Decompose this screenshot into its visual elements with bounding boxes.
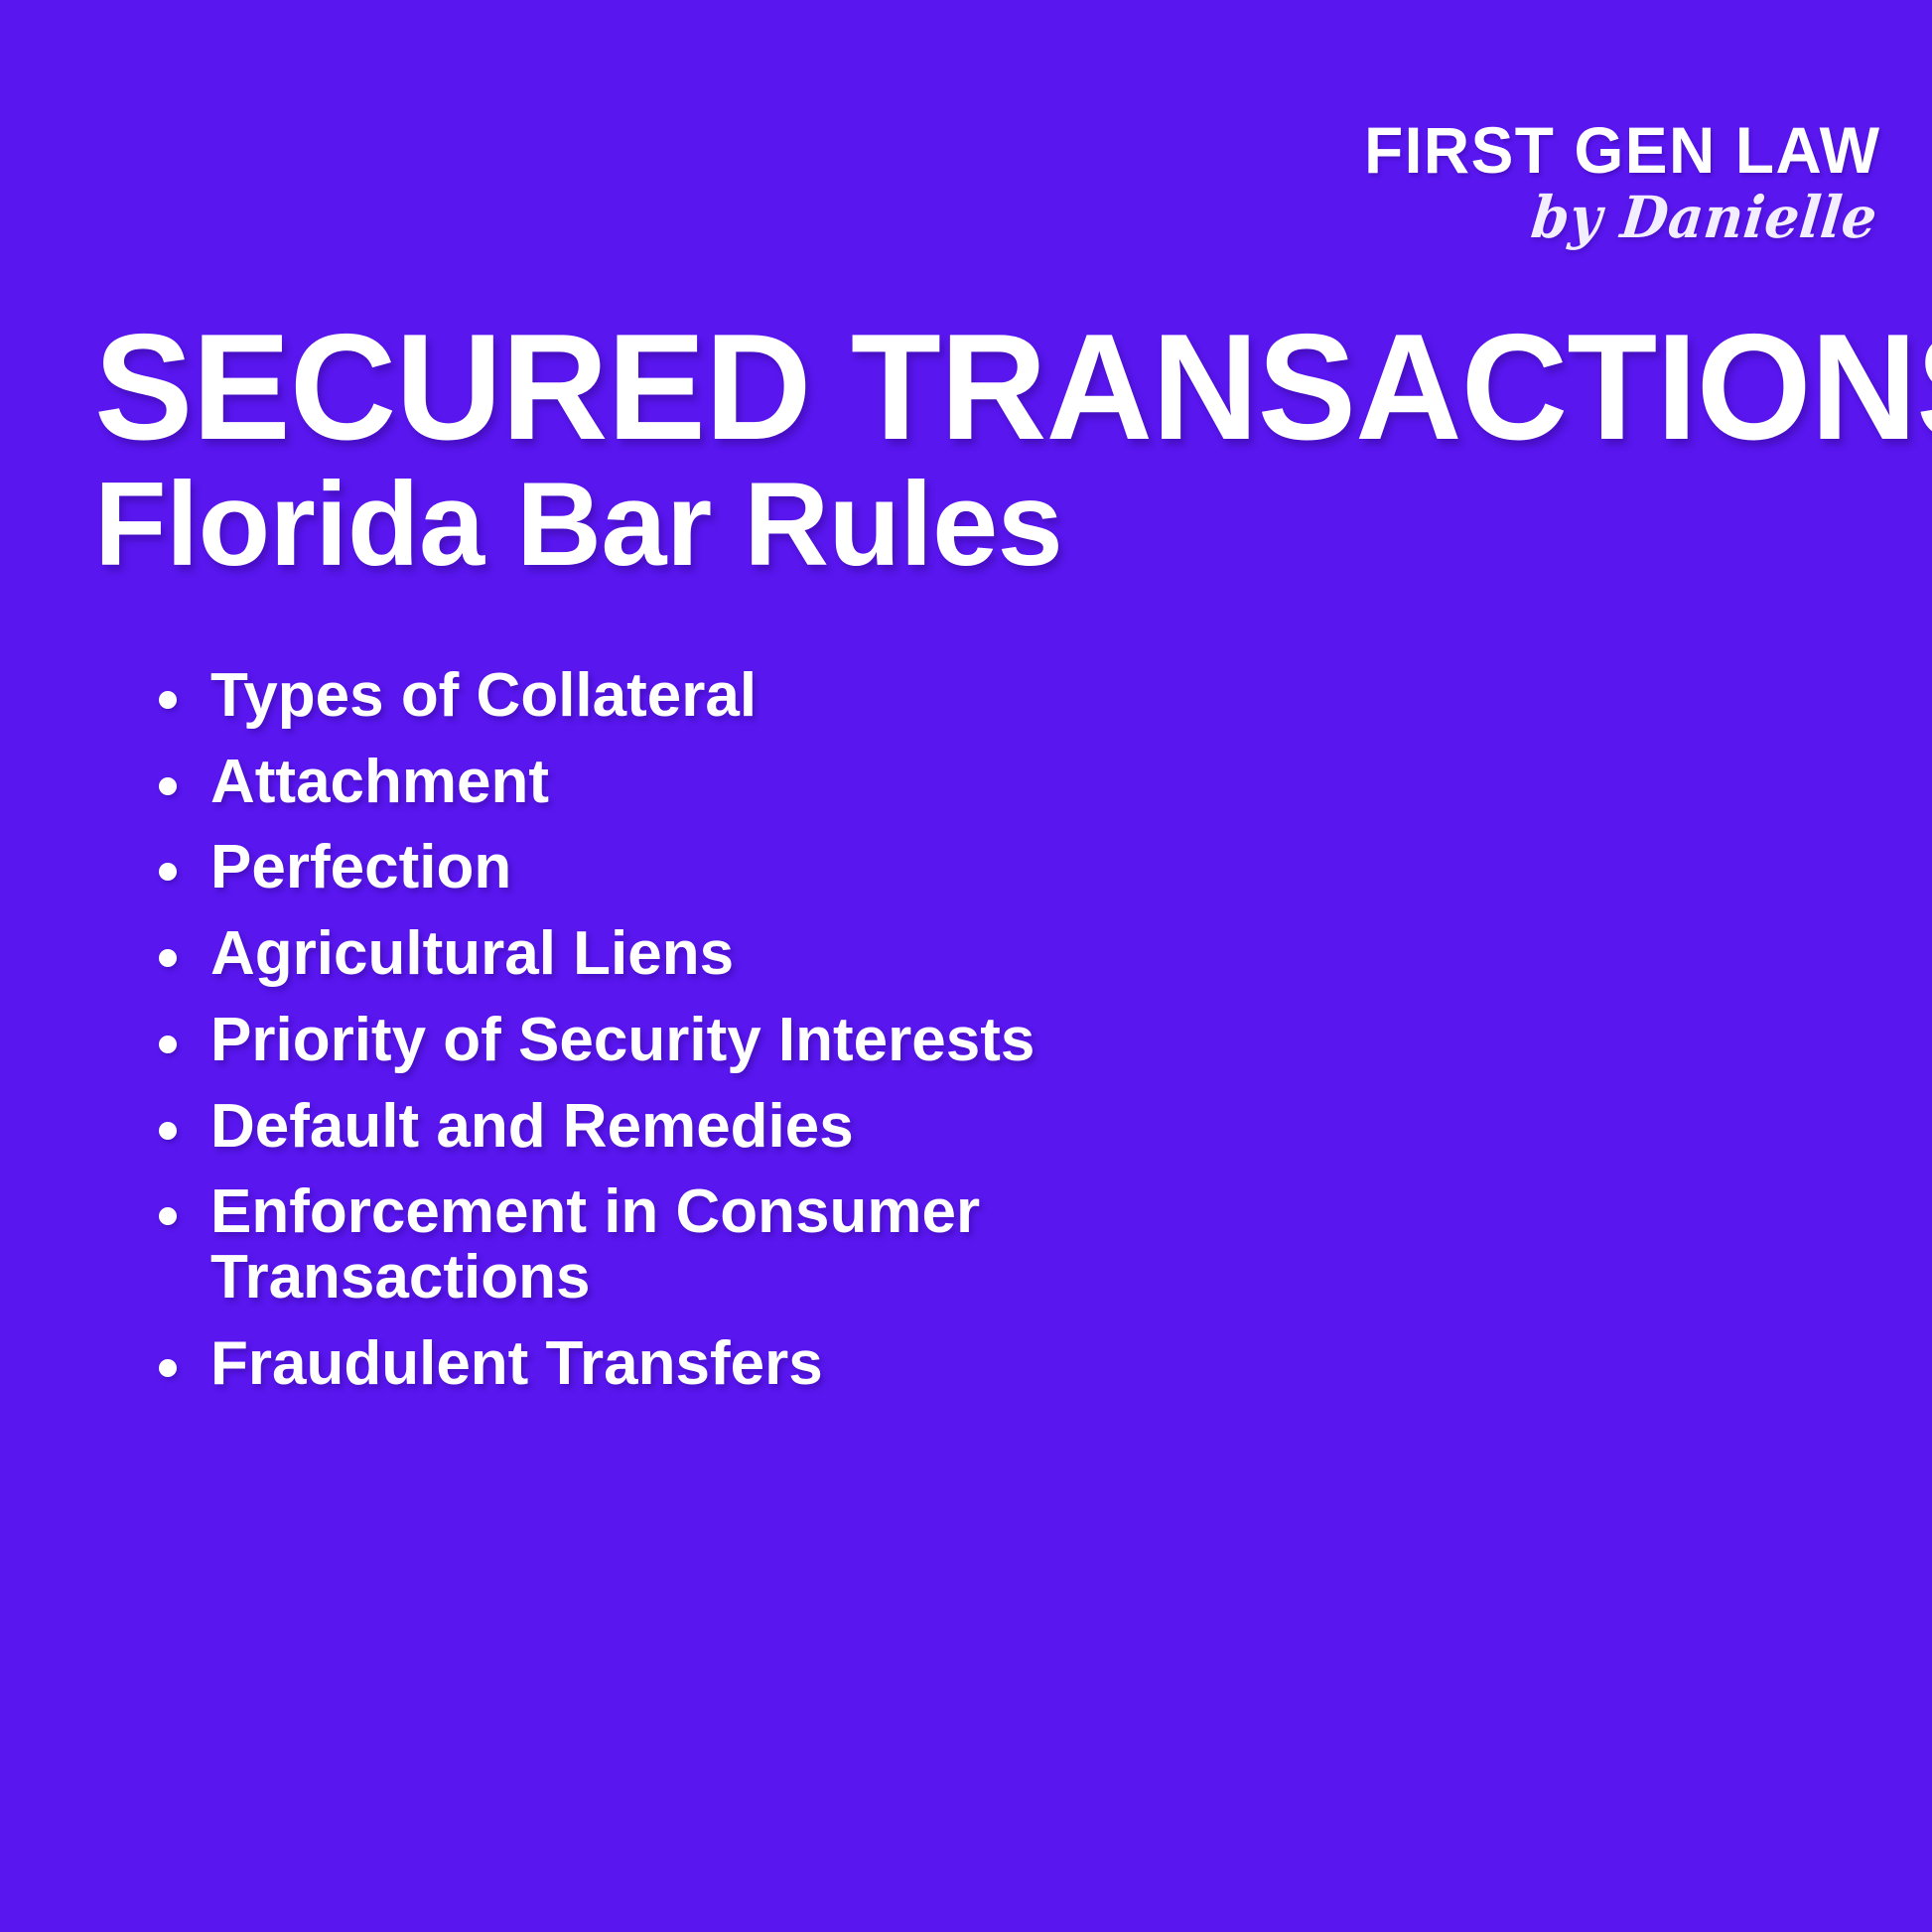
list-item: Attachment (149, 750, 1320, 815)
list-item: Perfection (149, 835, 1320, 900)
list-item: Agricultural Liens (149, 921, 1320, 987)
brand-byline: by Danielle (1376, 189, 1879, 246)
brand-name: FIRST GEN LAW (1364, 117, 1880, 183)
slide-canvas: FIRST GEN LAW by Danielle SECURED TRANSA… (0, 0, 1932, 1932)
page-subtitle: Florida Bar Rules (94, 465, 1863, 584)
list-item: Types of Collateral (149, 663, 1320, 729)
topic-list: Types of Collateral Attachment Perfectio… (149, 663, 1320, 1417)
list-item: Default and Remedies (149, 1094, 1320, 1160)
headline-block: SECURED TRANSACTIONS Florida Bar Rules (94, 316, 1881, 584)
page-title: SECURED TRANSACTIONS (94, 316, 1846, 459)
list-item: Priority of Security Interests (149, 1008, 1320, 1073)
list-item: Fraudulent Transfers (149, 1331, 1320, 1397)
brand-logo: FIRST GEN LAW by Danielle (1348, 117, 1880, 246)
list-item: Enforcement in Consumer Transactions (149, 1179, 1025, 1310)
